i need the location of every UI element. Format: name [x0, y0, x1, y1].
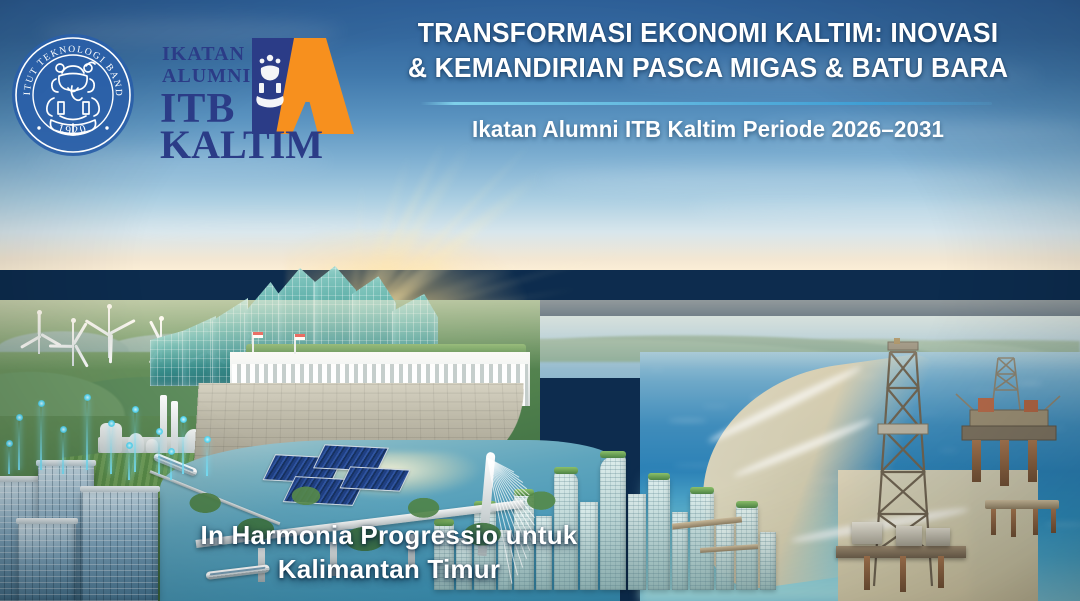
digital-light-beam: [62, 430, 64, 474]
digital-light-beam: [40, 404, 42, 470]
digital-glow-dot: [156, 428, 163, 435]
tagline-line1: In Harmonia Progressio untuk: [18, 518, 760, 553]
digital-glow-dot: [132, 406, 139, 413]
platform-leg: [972, 440, 981, 482]
digital-light-beam: [128, 446, 130, 480]
indonesia-flag: [295, 334, 305, 340]
digital-glow-dot: [16, 414, 23, 421]
digital-light-beam: [134, 410, 136, 472]
digital-glow-dot: [204, 436, 211, 443]
poster-title-line1: TRANSFORMASI EKONOMI KALTIM: INOVASI: [361, 16, 1056, 51]
title-block: TRANSFORMASI EKONOMI KALTIM: INOVASI & K…: [348, 16, 1068, 85]
poster-header: INSTITUT TEKNOLOGI BANDUNG 1920: [0, 0, 1080, 172]
platform-leg: [1000, 440, 1009, 486]
digital-glow-dot: [6, 440, 13, 447]
storage-tank: [146, 439, 158, 453]
digital-glow-dot: [84, 394, 91, 401]
poster-canvas: INSTITUT TEKNOLOGI BANDUNG 1920: [0, 0, 1080, 601]
platform-leg: [1028, 440, 1037, 482]
palace-wing: [150, 330, 186, 386]
wind-turbine: [30, 312, 48, 354]
palace-wing: [182, 316, 216, 386]
indonesia-flag: [253, 332, 263, 338]
chimney-stack: [160, 395, 167, 453]
chimney-stack: [171, 401, 178, 453]
digital-light-beam: [158, 432, 160, 474]
ia-line-kaltim: KALTIM: [160, 122, 323, 160]
offshore-oil-platform: [948, 352, 1068, 492]
wind-turbine: [100, 306, 118, 358]
cloud: [690, 200, 1080, 218]
digital-glow-dot: [60, 426, 67, 433]
ia-kaltim-logo[interactable]: IKATAN ALUMNI ITB KALTIM: [158, 30, 358, 160]
digital-light-beam: [170, 452, 172, 480]
digital-glow-dot: [108, 420, 115, 427]
digital-light-beam: [86, 398, 88, 470]
digital-light-beam: [110, 424, 112, 474]
digital-glow-dot: [126, 442, 133, 449]
digital-glow-dot: [180, 416, 187, 423]
ia-line-ikatan: IKATAN: [162, 43, 245, 65]
poster-subtitle: Ikatan Alumni ITB Kaltim Periode 2026–20…: [359, 116, 1057, 143]
wind-turbine: [64, 320, 82, 366]
digital-glow-dot: [168, 448, 175, 455]
digital-light-beam: [18, 418, 20, 470]
tagline-line2: Kalimantan Timur: [18, 552, 760, 587]
ia-line-alumni: ALUMNI: [162, 65, 251, 87]
itb-seal-logo[interactable]: INSTITUT TEKNOLOGI BANDUNG 1920: [10, 32, 136, 158]
garuda-palace-ikn: [150, 236, 450, 386]
title-divider: [420, 102, 992, 105]
poster-title-line2: & KEMANDIRIAN PASCA MIGAS & BATU BARA: [361, 51, 1056, 86]
poster-tagline: In Harmonia Progressio untuk Kalimantan …: [0, 518, 1080, 587]
digital-glow-dot: [38, 400, 45, 407]
digital-light-beam: [8, 444, 10, 474]
